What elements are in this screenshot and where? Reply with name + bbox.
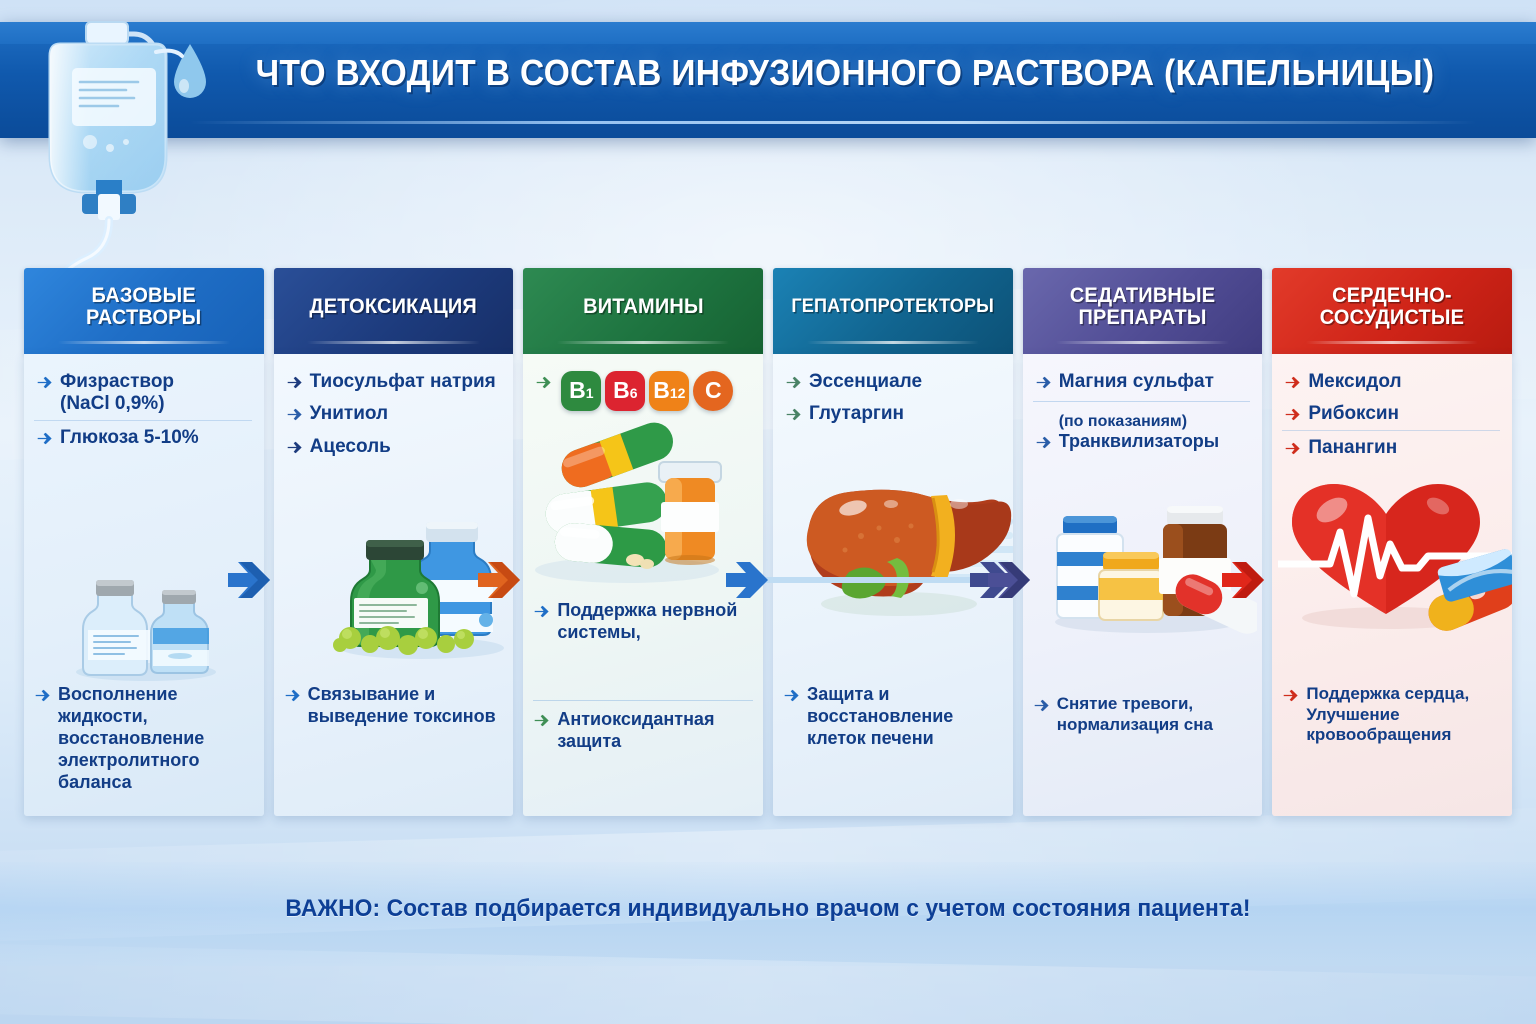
outcome-detoxication: Связывание и выведение токсинов	[284, 684, 504, 728]
arrow-bullet-icon	[1035, 434, 1052, 451]
outcome-vitamins-1: Поддержка нервной системы,	[533, 600, 753, 644]
vitamin-badge-b6[interactable]: B6	[605, 371, 645, 411]
arrow-bullet-icon	[1284, 406, 1301, 423]
list-item[interactable]: Тиосульфат натрия	[284, 368, 502, 397]
list-item[interactable]: Транквилизаторы	[1033, 431, 1251, 456]
outcome-label: Поддержка нервной системы,	[557, 600, 753, 644]
arrow-bullet-icon	[36, 430, 53, 447]
list-item-label: Панангин	[1308, 437, 1500, 459]
arrow-bullet-icon	[785, 374, 802, 391]
arrow-bullet-icon	[533, 603, 550, 620]
vitamin-badge-row[interactable]: B1 B6 B12 C	[533, 368, 751, 415]
list-item-label: Глюкоза 5-10%	[60, 427, 252, 449]
outcome-label: Восполнение жидкости, восстановление эле…	[58, 684, 254, 794]
liver-icon	[787, 474, 1013, 639]
list-item-label: Физраствор (NaCl 0,9%)	[60, 371, 252, 416]
outcome-label: Связывание и выведение токсинов	[308, 684, 504, 728]
list-item-label: Транквилизаторы	[1059, 431, 1251, 452]
infographic-poster: ЧТО ВХОДИТ В СОСТАВ ИНФУЗИОННОГО РАСТВОР…	[0, 0, 1536, 1024]
outcome-base-solutions: Восполнение жидкости, восстановление эле…	[34, 684, 254, 794]
list-item-label: Рибоксин	[1308, 403, 1500, 425]
arrow-bullet-icon	[286, 374, 303, 391]
column-cardiovascular[interactable]: СЕРДЕЧНО- СОСУДИСТЫЕ Мексидол Рибоксин	[1272, 268, 1512, 816]
sedatives-note: (по показаниям)	[1033, 411, 1251, 431]
item-list-cardiovascular: Мексидол Рибоксин Панангин	[1282, 368, 1500, 463]
divider	[1033, 401, 1251, 411]
header-band-highlight	[0, 22, 1536, 44]
arrow-bullet-icon	[36, 374, 53, 391]
column-title-sedatives: СЕДАТИВНЫЕ ПРЕПАРАТЫ	[1070, 285, 1215, 329]
outcome-vitamins-2: Антиоксидантная защита	[533, 700, 753, 753]
column-title-cardiovascular: СЕРДЕЧНО- СОСУДИСТЫЕ	[1320, 285, 1464, 329]
outcome-hepatoprotectors: Защита и восстановление клеток печени	[783, 684, 1003, 750]
list-item[interactable]: Глутаргин	[783, 397, 1001, 429]
arrow-bullet-icon	[785, 406, 802, 423]
arrow-bullet-icon	[34, 687, 51, 704]
arrow-bullet-icon	[1033, 697, 1050, 714]
connector-2-3	[478, 560, 534, 600]
list-item[interactable]: Мексидол	[1282, 368, 1500, 397]
list-item[interactable]: Физраствор (NaCl 0,9%)	[34, 368, 252, 420]
column-title-detoxication: ДЕТОКСИКАЦИЯ	[310, 296, 478, 318]
column-title-base-solutions: БАЗОВЫЕ РАСТВОРЫ	[86, 285, 201, 329]
outcome-label: Защита и восстановление клеток печени	[807, 684, 1003, 750]
vitamin-badge-b12[interactable]: B12	[649, 371, 689, 411]
arrow-bullet-icon	[1284, 374, 1301, 391]
item-list-sedatives: Магния сульфат (по показаниям) Транквили…	[1033, 368, 1251, 457]
vitamin-badge-c[interactable]: C	[693, 371, 733, 411]
list-item[interactable]: Глюкоза 5-10%	[34, 420, 252, 453]
arrow-bullet-icon	[286, 439, 303, 456]
arrow-bullet-icon	[286, 406, 303, 423]
list-item-label: Эссенциале	[809, 371, 1001, 393]
page-title: ЧТО ВХОДИТ В СОСТАВ ИНФУЗИОННОГО РАСТВОР…	[245, 52, 1445, 94]
column-header-sedatives: СЕДАТИВНЫЕ ПРЕПАРАТЫ	[1023, 268, 1263, 354]
outcome-label: Поддержка сердца, Улучшение кровообращен…	[1306, 684, 1502, 746]
outcome-cardiovascular: Поддержка сердца, Улучшение кровообращен…	[1282, 684, 1502, 746]
outcome-sedatives: Снятие тревоги, нормализация сна	[1033, 694, 1253, 735]
footer-note: ВАЖНО: Состав подбирается индивидуально …	[38, 895, 1497, 923]
column-header-hepatoprotectors: ГЕПАТОПРОТЕКТОРЫ	[773, 268, 1013, 354]
outcome-label: Снятие тревоги, нормализация сна	[1057, 694, 1253, 735]
item-list-hepatoprotectors: Эссенциале Глутаргин	[783, 368, 1001, 430]
column-header-vitamins: ВИТАМИНЫ	[523, 268, 763, 354]
heart-with-ecg-icon	[1278, 472, 1512, 637]
list-item-label: Ацесоль	[310, 436, 502, 458]
column-hepatoprotectors[interactable]: ГЕПАТОПРОТЕКТОРЫ Эссенциале Глутаргин	[773, 268, 1013, 816]
item-list-base-solutions: Физраствор (NaCl 0,9%) Глюкоза 5-10%	[34, 368, 252, 453]
list-item[interactable]: Унитиол	[284, 397, 502, 429]
column-header-base-solutions: БАЗОВЫЕ РАСТВОРЫ	[24, 268, 264, 354]
column-body-cardiovascular: Мексидол Рибоксин Панангин	[1272, 354, 1512, 816]
column-title-vitamins: ВИТАМИНЫ	[583, 296, 704, 318]
iv-drip-bag-icon	[14, 8, 224, 278]
arrow-bullet-icon	[1035, 374, 1052, 391]
list-item[interactable]: Ацесоль	[284, 430, 502, 462]
column-base-solutions[interactable]: БАЗОВЫЕ РАСТВОРЫ Физраствор (NaCl 0,9%)	[24, 268, 264, 816]
column-vitamins[interactable]: ВИТАМИНЫ B1 B6 B1	[523, 268, 763, 816]
list-item-label: Тиосульфат натрия	[310, 371, 502, 393]
arrow-bullet-icon	[533, 712, 550, 729]
arrow-bullet-icon	[284, 687, 301, 704]
arrow-bullet-icon	[535, 374, 552, 391]
connector-3-4	[726, 560, 1026, 600]
arrow-bullet-icon	[783, 687, 800, 704]
list-item-label: Магния сульфат	[1059, 371, 1251, 393]
connector-5-6	[1222, 560, 1278, 600]
list-item[interactable]: Эссенциале	[783, 368, 1001, 397]
list-item-label: Мексидол	[1308, 371, 1500, 393]
arrow-bullet-icon	[1284, 440, 1301, 457]
item-list-detoxication: Тиосульфат натрия Унитиол Ацесоль	[284, 368, 502, 462]
column-header-cardiovascular: СЕРДЕЧНО- СОСУДИСТЫЕ	[1272, 268, 1512, 354]
column-header-detoxication: ДЕТОКСИКАЦИЯ	[274, 268, 514, 354]
connector-4-5	[988, 560, 1044, 600]
column-title-hepatoprotectors: ГЕПАТОПРОТЕКТОРЫ	[791, 297, 994, 317]
outcome-label: Антиоксидантная защита	[557, 709, 753, 753]
capsules-and-pill-bottle-icon	[527, 410, 737, 595]
column-sedatives[interactable]: СЕДАТИВНЫЕ ПРЕПАРАТЫ Магния сульфат (по …	[1023, 268, 1263, 816]
two-vials-icon	[58, 554, 228, 689]
list-item-label: Унитиол	[310, 403, 502, 425]
vitamin-badge-b1[interactable]: B1	[561, 371, 601, 411]
connector-1-2	[228, 560, 284, 600]
arrow-bullet-icon	[1282, 687, 1299, 704]
list-item[interactable]: Рибоксин	[1282, 397, 1500, 429]
vitamin-badges: B1 B6 B12 C	[559, 371, 733, 411]
list-item[interactable]: Панангин	[1282, 430, 1500, 463]
item-list-vitamins: B1 B6 B12 C	[533, 368, 751, 415]
list-item[interactable]: Магния сульфат	[1033, 368, 1251, 397]
category-columns: БАЗОВЫЕ РАСТВОРЫ Физраствор (NaCl 0,9%)	[24, 268, 1512, 816]
list-item-label: Глутаргин	[809, 403, 1001, 425]
column-detoxication[interactable]: ДЕТОКСИКАЦИЯ Тиосульфат натрия Унитиол А…	[274, 268, 514, 816]
